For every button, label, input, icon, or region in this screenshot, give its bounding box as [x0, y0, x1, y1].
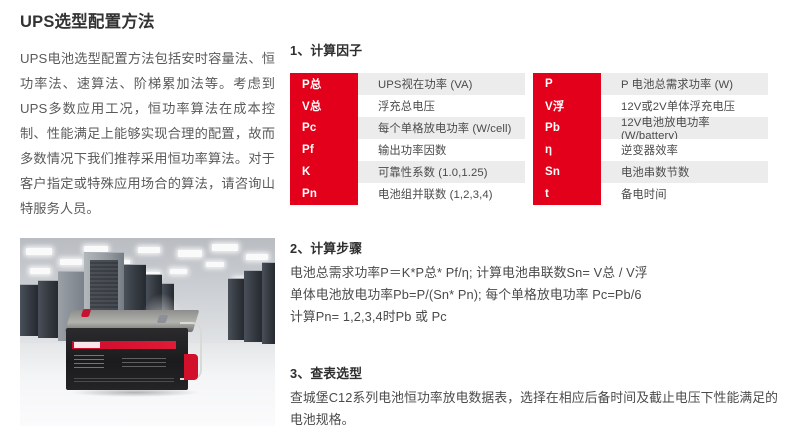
lookup-line: 查城堡C12系列电池恒功率放电数据表，选择在相应后备时间及截止电压下性能满足的 [290, 387, 760, 409]
lookup-line: 电池规格。 [290, 409, 760, 429]
cell-gap [358, 183, 368, 205]
ceiling-lamp-icon [30, 268, 50, 274]
factor-symbol: η [533, 139, 601, 161]
cell-gap [358, 161, 368, 183]
factor-description: 电池组并联数 (1,2,3,4) [368, 183, 525, 205]
battery-brand-logo [74, 342, 100, 348]
battery-product-image [66, 324, 196, 390]
ceiling-lamp-icon [178, 250, 202, 257]
cell-gap [358, 139, 368, 161]
table-row: Sn 电池串数节数 [533, 161, 768, 183]
ceiling-lamp-icon [138, 247, 160, 253]
table-row: P P 电池总需求功率 (W) [533, 73, 768, 95]
page-root: UPS选型配置方法 UPS电池选型配置方法包括安时容量法、恒功率法、速算法、阶梯… [0, 0, 800, 429]
step-line: 单体电池放电功率Pb=P/(Sn* Pn); 每个单格放电功率 Pc=Pb/6 [290, 284, 760, 306]
factor-symbol: Pn [290, 183, 358, 205]
factor-description: UPS视在功率 (VA) [368, 73, 525, 95]
section-heading-factors: 1、计算因子 [290, 40, 362, 59]
section-lookup: 3、查表选型 查城堡C12系列电池恒功率放电数据表，选择在相应后备时间及截止电压… [290, 363, 760, 429]
step-line: 电池总需求功率P＝K*P总* Pf/η; 计算电池串联数Sn= V总 / V浮 [290, 262, 760, 284]
intro-paragraph: UPS电池选型配置方法包括安时容量法、恒功率法、速算法、阶梯累加法等。考虑到UP… [20, 46, 275, 221]
steps-body: 电池总需求功率P＝K*P总* Pf/η; 计算电池串联数Sn= V总 / V浮 … [290, 262, 760, 328]
factor-symbol: Pf [290, 139, 358, 161]
cell-gap [601, 117, 611, 139]
factor-symbol: V浮 [533, 95, 601, 117]
cell-gap [601, 73, 611, 95]
server-rack [228, 278, 244, 340]
factor-table-left: P总 UPS视在功率 (VA) V总 浮充总电压 Pc 每个单格放电功率 (W/… [290, 73, 525, 205]
factor-table-right: P P 电池总需求功率 (W) V浮 12V或2V单体浮充电压 Pb 12V电池… [533, 73, 768, 205]
server-rack [244, 270, 262, 342]
ceiling-lamp-icon [246, 254, 268, 260]
factor-symbol: P总 [290, 73, 358, 95]
factor-symbol: K [290, 161, 358, 183]
table-row: Pc 每个单格放电功率 (W/cell) [290, 117, 525, 139]
cell-gap [601, 161, 611, 183]
ceiling-lamp-icon [212, 244, 238, 251]
server-rack [262, 262, 275, 344]
factor-symbol: V总 [290, 95, 358, 117]
factor-description: 电池串数节数 [611, 161, 768, 183]
server-rack [38, 280, 58, 338]
section-steps: 2、计算步骤 电池总需求功率P＝K*P总* Pf/η; 计算电池串联数Sn= V… [290, 238, 760, 328]
factor-symbol: Pc [290, 117, 358, 139]
product-photo [20, 238, 275, 426]
cell-gap [601, 95, 611, 117]
cell-gap [358, 117, 368, 139]
step-line: 计算Pn= 1,2,3,4时Pb 或 Pc [290, 306, 760, 328]
cell-gap [601, 183, 611, 205]
battery-case [66, 328, 188, 390]
table-row: Pn 电池组并联数 (1,2,3,4) [290, 183, 525, 205]
factor-description: 可靠性系数 (1.0,1.25) [368, 161, 525, 183]
factor-symbol: t [533, 183, 601, 205]
factor-symbol: Sn [533, 161, 601, 183]
battery-handle-grip [184, 354, 198, 380]
table-row: t 备电时间 [533, 183, 768, 205]
left-column: UPS选型配置方法 UPS电池选型配置方法包括安时容量法、恒功率法、速算法、阶梯… [20, 12, 275, 221]
ceiling-lamp-icon [206, 262, 224, 267]
table-row: η 逆变器效率 [533, 139, 768, 161]
ceiling-lamp-icon [26, 248, 52, 255]
table-row: P总 UPS视在功率 (VA) [290, 73, 525, 95]
right-column: 1、计算因子 P总 UPS视在功率 (VA) V总 浮充总电压 Pc 每个单格放… [290, 0, 800, 429]
battery-spec-text [74, 355, 104, 369]
ceiling-lamp-icon [60, 259, 82, 265]
factor-description: 浮充总电压 [368, 95, 525, 117]
lookup-body: 查城堡C12系列电池恒功率放电数据表，选择在相应后备时间及截止电压下性能满足的 … [290, 387, 760, 429]
factor-description: 备电时间 [611, 183, 768, 205]
factor-description: 12V电池放电功率 (W/battery) [611, 117, 768, 139]
server-rack [20, 284, 38, 336]
battery-warning-symbols [122, 358, 166, 368]
cell-gap [358, 95, 368, 117]
factor-description: 输出功率因数 [368, 139, 525, 161]
factor-symbol: Pb [533, 117, 601, 139]
table-row: Pf 输出功率因数 [290, 139, 525, 161]
battery-footer-text [74, 378, 174, 383]
section-heading-steps: 2、计算步骤 [290, 238, 760, 257]
factor-description: 每个单格放电功率 (W/cell) [368, 117, 525, 139]
table-row: K 可靠性系数 (1.0,1.25) [290, 161, 525, 183]
table-row: V总 浮充总电压 [290, 95, 525, 117]
page-title: UPS选型配置方法 [20, 12, 275, 33]
factor-symbol: P [533, 73, 601, 95]
section-heading-lookup: 3、查表选型 [290, 363, 760, 382]
factor-description: 逆变器效率 [611, 139, 768, 161]
cell-gap [358, 73, 368, 95]
factor-tables: P总 UPS视在功率 (VA) V总 浮充总电压 Pc 每个单格放电功率 (W/… [290, 73, 792, 205]
cell-gap [601, 139, 611, 161]
table-row: Pb 12V电池放电功率 (W/battery) [533, 117, 768, 139]
factor-description: P 电池总需求功率 (W) [611, 73, 768, 95]
ceiling-lamp-icon [170, 269, 187, 274]
